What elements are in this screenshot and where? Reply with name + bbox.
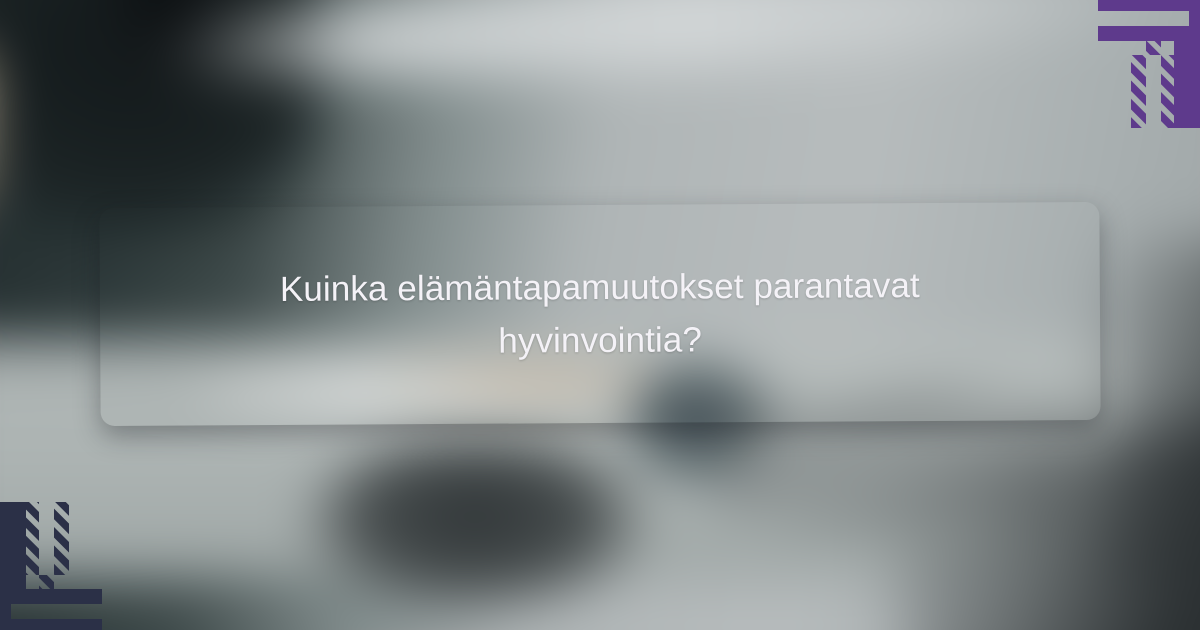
- headline-text: Kuinka elämäntapamuutokset parantavat hy…: [240, 259, 961, 370]
- social-card-canvas: Kuinka elämäntapamuutokset parantavat hy…: [0, 0, 1200, 630]
- background-shape-dark-chair: [310, 440, 640, 610]
- headline-card: Kuinka elämäntapamuutokset parantavat hy…: [99, 202, 1100, 426]
